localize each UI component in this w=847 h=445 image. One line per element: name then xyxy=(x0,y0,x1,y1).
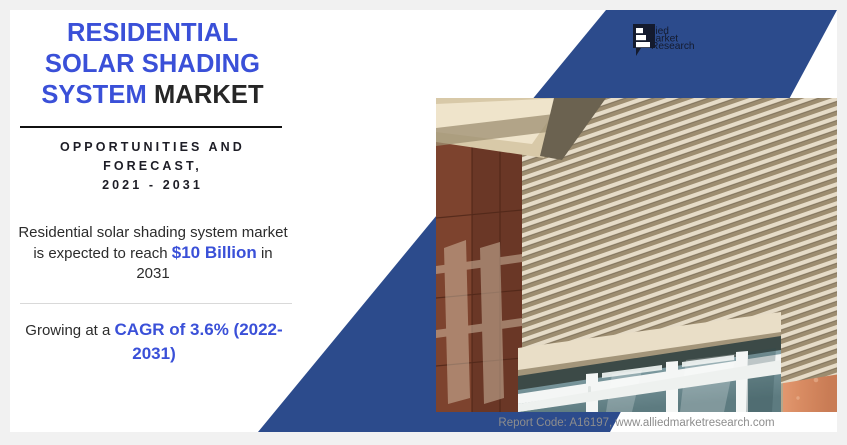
divider-light xyxy=(20,303,292,304)
report-code-caption: Report Code: A16197, www.alliedmarketres… xyxy=(436,414,837,432)
headline-line-2: SOLAR SHADING xyxy=(45,50,260,78)
stat-market-reach: Residential solar shading system market … xyxy=(18,223,288,284)
headline-line-3-dark: MARKET xyxy=(154,81,264,109)
stat-cagr-prefix: Growing at a xyxy=(25,322,114,339)
infographic-card: RESIDENTIAL SOLAR SHADING SYSTEM MARKET … xyxy=(10,10,837,432)
subtitle-line-2: FORECAST, xyxy=(103,159,202,173)
subtitle-line-1: OPPORTUNITIES AND xyxy=(60,140,245,154)
page-title: RESIDENTIAL SOLAR SHADING SYSTEM MARKET xyxy=(14,18,291,111)
stat-cagr-value: CAGR of 3.6% (2022-2031) xyxy=(115,320,283,363)
stat-cagr: Growing at a CAGR of 3.6% (2022-2031) xyxy=(18,318,290,366)
page-subtitle: OPPORTUNITIES AND FORECAST, 2021 - 2031 xyxy=(14,138,291,195)
subtitle-line-3: 2021 - 2031 xyxy=(102,178,203,192)
hero-photo xyxy=(436,98,837,412)
left-text-column: RESIDENTIAL SOLAR SHADING SYSTEM MARKET … xyxy=(10,10,295,432)
infographic-root: RESIDENTIAL SOLAR SHADING SYSTEM MARKET … xyxy=(0,0,847,445)
allied-market-research-logo: Allied Market Research xyxy=(629,21,709,67)
divider-dark xyxy=(20,126,282,128)
headline-line-1: RESIDENTIAL xyxy=(67,19,238,47)
logo-line-3: Research xyxy=(651,41,695,52)
stat-reach-value: $10 Billion xyxy=(172,243,257,262)
headline-line-3-blue: SYSTEM xyxy=(41,81,146,109)
